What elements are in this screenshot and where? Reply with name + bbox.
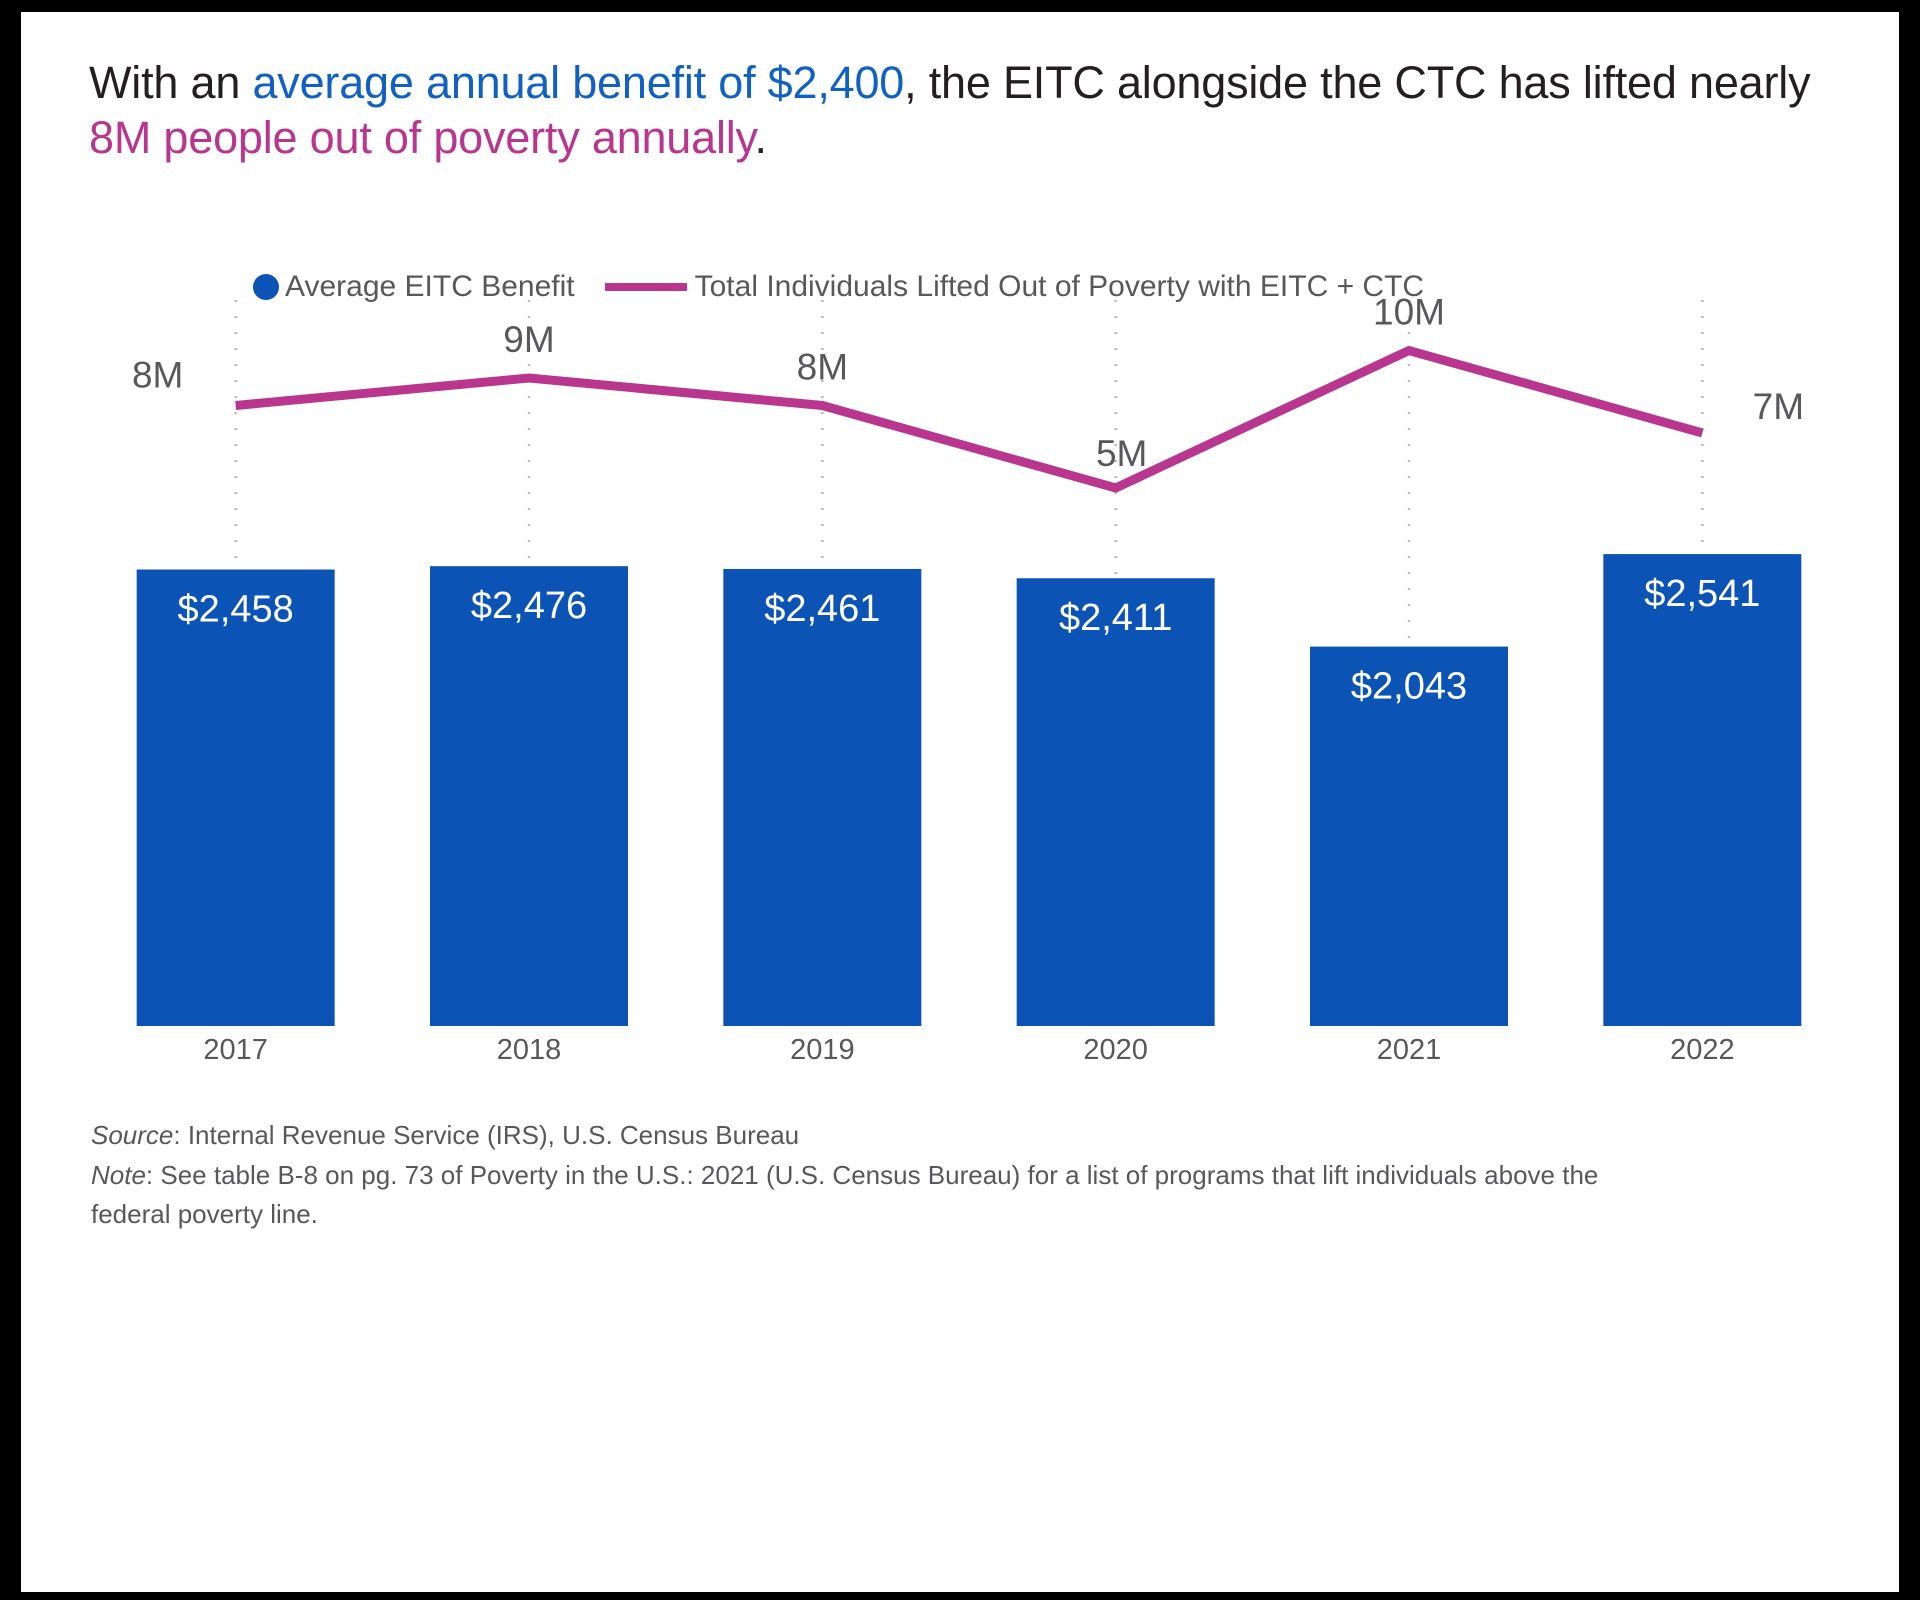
bar-value-label-2017: $2,458 <box>178 589 294 631</box>
poverty-trend-polyline[interactable] <box>236 351 1703 489</box>
x-axis-tick-2020: 2020 <box>1083 1034 1148 1067</box>
note-text: : See table B-8 on pg. 73 of Poverty in … <box>91 1160 1598 1228</box>
line-value-label-2019: 8M <box>797 347 848 388</box>
chart-bars <box>137 554 1802 1026</box>
title-segment-highlight-blue: average annual benefit of $2,400 <box>252 57 904 108</box>
bar-value-label-2022: $2,541 <box>1644 573 1760 615</box>
title-segment-highlight-magenta-value: 8M <box>89 112 151 163</box>
title-segment-plain-3: has lifted nearly <box>1499 57 1811 108</box>
title-segment-plain-1: With an <box>89 57 252 108</box>
note-label: Note <box>91 1160 146 1190</box>
source-text: : Internal Revenue Service (IRS), U.S. C… <box>173 1120 799 1150</box>
chart-bar-labels: $2,458$2,476$2,461$2,411$2,043$2,541 <box>178 573 1761 707</box>
x-axis-tick-2021: 2021 <box>1377 1034 1442 1067</box>
x-axis-tick-2017: 2017 <box>203 1034 268 1067</box>
title-segment-plain-2: , the EITC alongside the CTC <box>904 57 1486 108</box>
line-value-label-2020: 5M <box>1096 433 1147 474</box>
chart-trend-line <box>236 351 1703 489</box>
title-segment-period: . <box>755 112 767 163</box>
source-label: Source <box>91 1120 173 1150</box>
title-segment-highlight-magenta-text: people out of poverty annually <box>151 112 754 163</box>
chart-page: With an average annual benefit of $2,400… <box>0 0 1920 1600</box>
x-axis-tick-2018: 2018 <box>497 1034 562 1067</box>
bar-value-label-2020: $2,411 <box>1059 597 1172 639</box>
note-row: Note: See table B-8 on pg. 73 of Poverty… <box>91 1156 1671 1233</box>
legend-line-swatch-icon <box>605 283 687 291</box>
line-value-label-2021: 10M <box>1373 292 1445 333</box>
bar-value-label-2021: $2,043 <box>1351 666 1467 708</box>
line-value-label-2022: 7M <box>1753 386 1804 427</box>
chart-x-axis: 201720182019202020212022 <box>89 1034 1849 1084</box>
bar-2020[interactable] <box>1017 578 1215 1026</box>
page-title: With an average annual benefit of $2,400… <box>89 56 1849 166</box>
bar-value-label-2019: $2,461 <box>764 588 880 630</box>
chart-plot-area: 8M9M8M5M10M7M $2,458$2,476$2,461$2,411$2… <box>89 292 1849 1052</box>
line-value-label-2018: 9M <box>503 319 554 360</box>
chart-card: With an average annual benefit of $2,400… <box>21 12 1899 1592</box>
bar-2022[interactable] <box>1603 554 1801 1026</box>
bar-2017[interactable] <box>137 570 335 1026</box>
chart-footnotes: Source: Internal Revenue Service (IRS), … <box>91 1116 1671 1235</box>
bar-2019[interactable] <box>723 569 921 1026</box>
line-value-label-2017: 8M <box>132 355 183 396</box>
x-axis-tick-2019: 2019 <box>790 1034 855 1067</box>
bar-value-label-2018: $2,476 <box>471 585 587 627</box>
bar-2018[interactable] <box>430 566 628 1026</box>
x-axis-tick-2022: 2022 <box>1670 1034 1735 1067</box>
source-row: Source: Internal Revenue Service (IRS), … <box>91 1116 1671 1154</box>
